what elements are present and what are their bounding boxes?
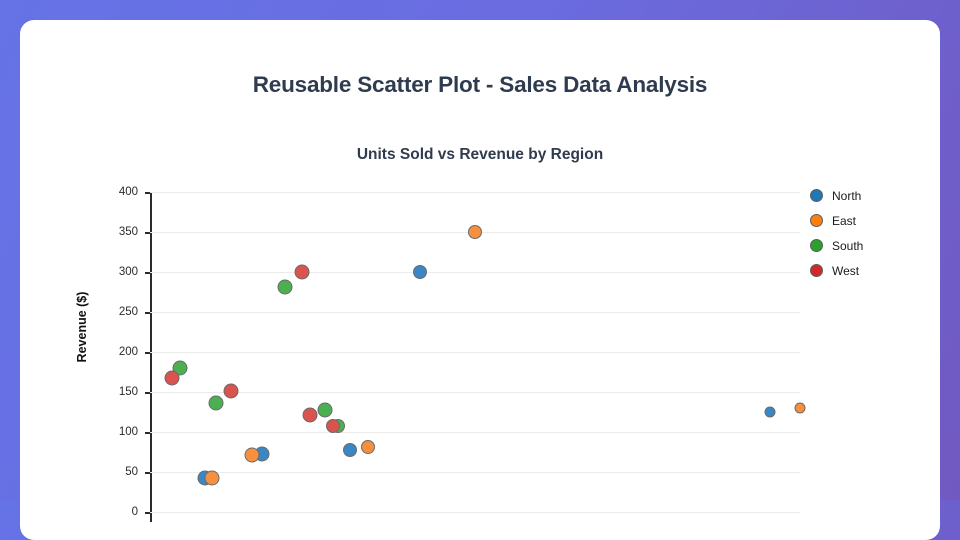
scatter-point	[326, 419, 340, 433]
scatter-plot-area	[150, 192, 800, 504]
scatter-point	[317, 402, 332, 417]
chart-legend: NorthEastSouthWest	[810, 183, 930, 283]
scatter-point	[765, 407, 776, 418]
chart-subtitle: Units Sold vs Revenue by Region	[20, 146, 940, 164]
scatter-point	[278, 280, 293, 295]
scatter-point	[468, 225, 482, 239]
y-axis-tick-labels: 050100150200250300350400	[102, 20, 138, 540]
y-tick-mark	[145, 192, 150, 194]
gridline	[150, 432, 800, 433]
scatter-point	[245, 448, 260, 463]
legend-label: East	[832, 214, 856, 228]
legend-item-east[interactable]: East	[810, 208, 930, 233]
y-tick-mark	[145, 472, 150, 474]
legend-swatch-icon	[810, 189, 823, 202]
y-tick-mark	[145, 232, 150, 234]
y-tick-mark	[145, 272, 150, 274]
gridline	[150, 352, 800, 353]
legend-swatch-icon	[810, 214, 823, 227]
gridline	[150, 472, 800, 473]
legend-item-north[interactable]: North	[810, 183, 930, 208]
gridline	[150, 512, 800, 513]
y-tick-label: 250	[102, 306, 138, 318]
y-tick-label: 50	[102, 466, 138, 478]
scatter-point	[361, 440, 375, 454]
scatter-point	[205, 470, 220, 485]
y-tick-label: 100	[102, 426, 138, 438]
y-tick-label: 350	[102, 226, 138, 238]
legend-label: South	[832, 239, 863, 253]
y-axis-title: Revenue ($)	[75, 257, 89, 397]
y-tick-label: 150	[102, 386, 138, 398]
scatter-point	[343, 443, 357, 457]
y-tick-mark	[145, 512, 150, 514]
scatter-point	[209, 396, 224, 411]
gridline	[150, 392, 800, 393]
legend-item-west[interactable]: West	[810, 258, 930, 283]
gridline	[150, 312, 800, 313]
scatter-point	[224, 384, 239, 399]
page-title: Reusable Scatter Plot - Sales Data Analy…	[20, 72, 940, 98]
scatter-point	[165, 370, 180, 385]
y-tick-mark	[145, 312, 150, 314]
y-tick-mark	[145, 432, 150, 434]
y-tick-label: 0	[102, 506, 138, 518]
chart-card: Reusable Scatter Plot - Sales Data Analy…	[20, 20, 940, 540]
y-tick-label: 300	[102, 266, 138, 278]
y-tick-label: 400	[102, 186, 138, 198]
legend-item-south[interactable]: South	[810, 233, 930, 258]
y-tick-label: 200	[102, 346, 138, 358]
legend-swatch-icon	[810, 264, 823, 277]
legend-label: North	[832, 189, 861, 203]
legend-label: West	[832, 264, 859, 278]
y-tick-mark	[145, 392, 150, 394]
scatter-point	[295, 265, 310, 280]
y-tick-mark	[145, 352, 150, 354]
legend-swatch-icon	[810, 239, 823, 252]
scatter-point	[413, 265, 427, 279]
scatter-point	[795, 403, 806, 414]
gridline	[150, 272, 800, 273]
gridline	[150, 192, 800, 193]
scatter-point	[302, 408, 317, 423]
